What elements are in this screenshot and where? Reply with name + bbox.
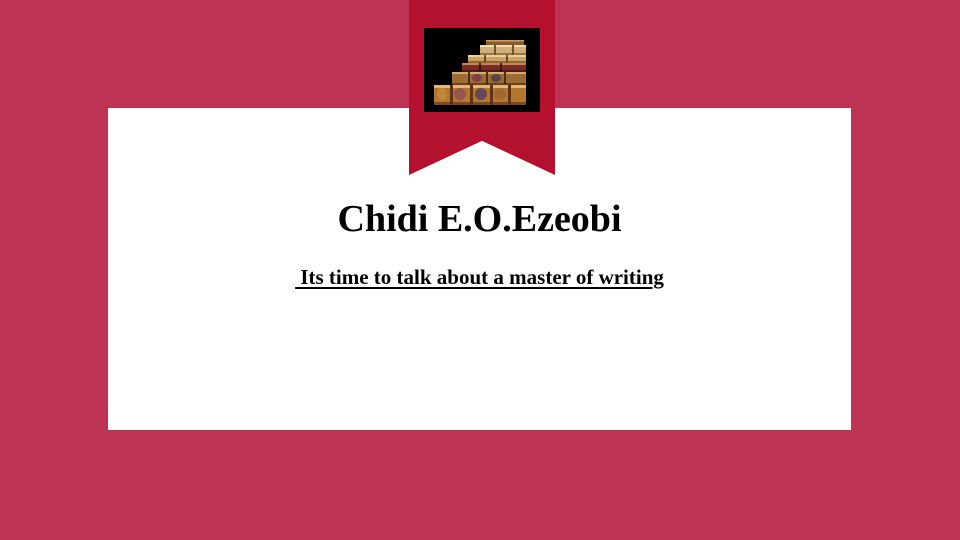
page-title: Chidi E.O.Ezeobi (108, 196, 851, 242)
slide-canvas: Chidi E.O.Ezeobi Its time to talk about … (0, 0, 960, 540)
page-subtitle: Its time to talk about a master of writi… (295, 265, 664, 289)
book-stack-image (424, 28, 540, 112)
book-stack-icon (424, 28, 540, 112)
text-block: Chidi E.O.Ezeobi Its time to talk about … (108, 196, 851, 290)
subtitle-row: Its time to talk about a master of writi… (108, 264, 851, 290)
